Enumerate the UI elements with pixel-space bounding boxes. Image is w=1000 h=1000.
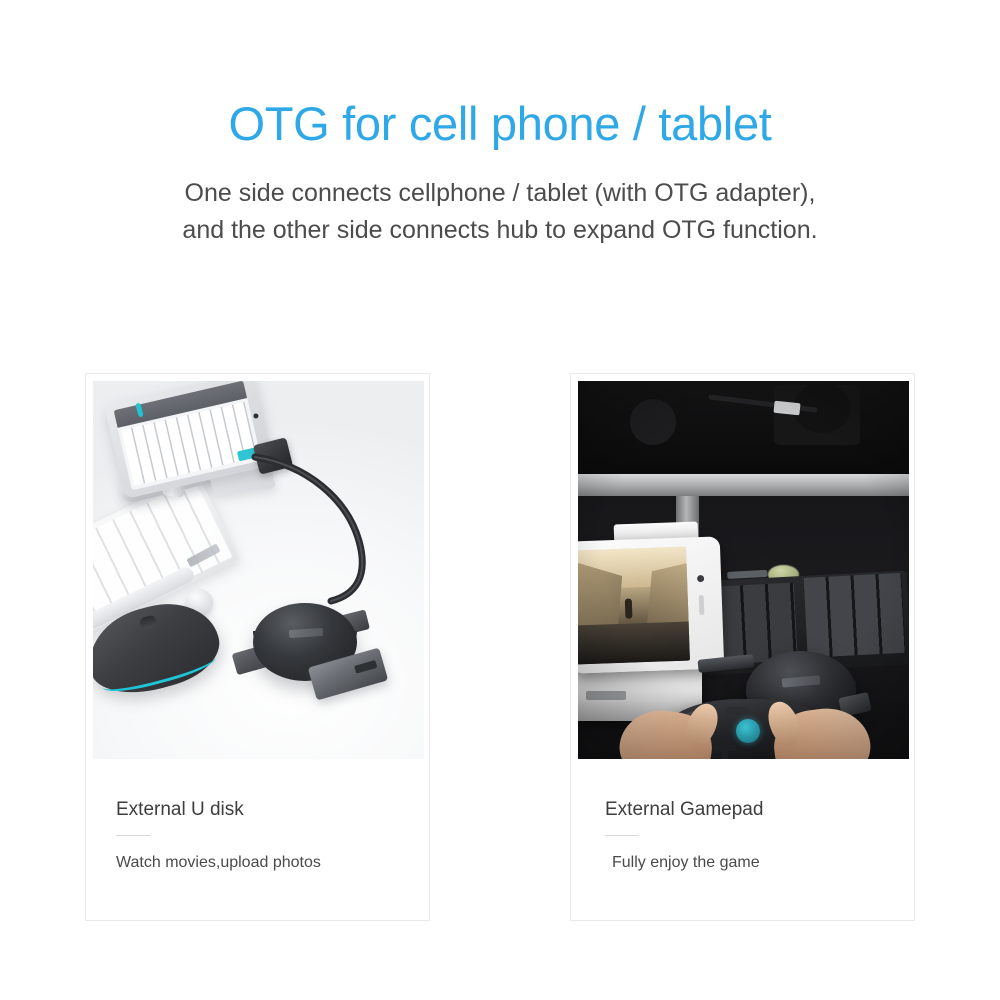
card-caption-external-u-disk: External U disk Watch movies,upload phot…: [86, 799, 429, 874]
page-header: OTG for cell phone / tablet One side con…: [0, 0, 1000, 249]
page-subtitle: One side connects cellphone / tablet (wi…: [0, 175, 1000, 249]
phone-camera-icon: [253, 413, 259, 419]
page-title: OTG for cell phone / tablet: [0, 96, 1000, 151]
dark-desk-scene: [578, 381, 909, 759]
otg-adapter: [253, 437, 293, 474]
mouse-scroll-wheel: [139, 615, 158, 631]
subtitle-line-2: and the other side connects hub to expan…: [0, 212, 1000, 249]
product-feature-page: OTG for cell phone / tablet One side con…: [0, 0, 1000, 1000]
caption-description: Fully enjoy the game: [612, 853, 914, 874]
caption-title: External U disk: [116, 799, 429, 822]
product-photo-external-gamepad: [578, 381, 909, 759]
product-photo-external-u-disk: [93, 381, 424, 759]
photo-vignette: [578, 381, 909, 759]
caption-title: External Gamepad: [605, 799, 914, 822]
feature-card-external-u-disk: External U disk Watch movies,upload phot…: [85, 373, 430, 921]
subtitle-line-1: One side connects cellphone / tablet (wi…: [0, 175, 1000, 212]
caption-divider: [116, 835, 150, 836]
card-caption-external-gamepad: External Gamepad Fully enjoy the game: [571, 799, 914, 874]
caption-divider: [605, 835, 639, 836]
light-desk-scene: [93, 381, 424, 759]
caption-description: Watch movies,upload photos: [116, 853, 429, 874]
feature-card-external-gamepad: External Gamepad Fully enjoy the game: [570, 373, 915, 921]
mouse-accent-ring: [99, 645, 218, 698]
